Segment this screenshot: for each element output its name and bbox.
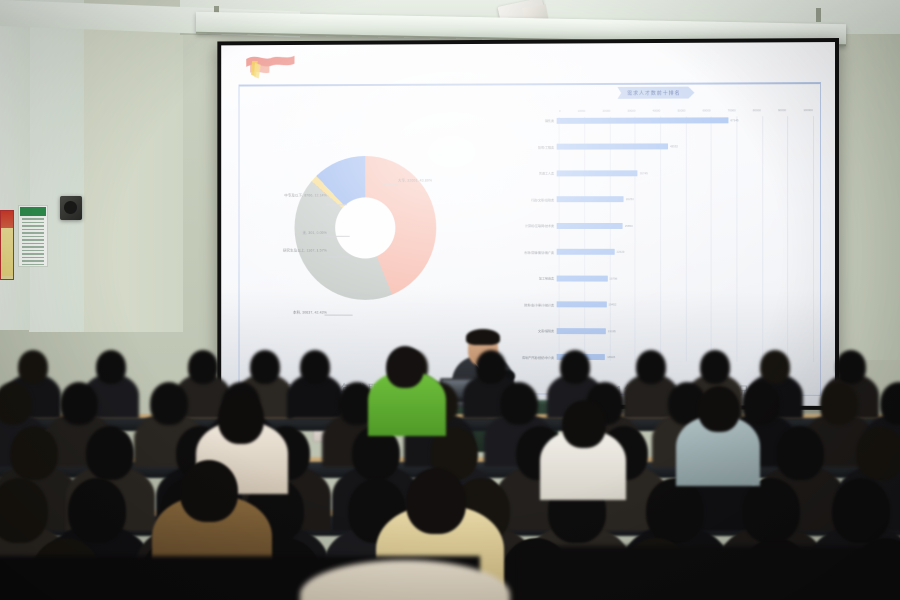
bar-chart-value-label: 19796	[607, 276, 617, 280]
audience-head	[250, 350, 280, 384]
donut-label-zhongzhuan: 中专及以下, 8766, 12.14%	[244, 194, 327, 199]
bar-chart-x-tick: 20000	[602, 109, 610, 117]
wall-speaker	[60, 196, 82, 220]
bar-chart-bar[interactable]	[557, 144, 668, 150]
bar-chart-value-label: 25850	[623, 224, 633, 228]
bar-chart-x-tick: 30000	[627, 109, 635, 117]
bar-chart-category-label: 财务/会计/审计/统计类	[496, 302, 557, 307]
audience-head	[386, 346, 424, 388]
bar-chart-bar[interactable]	[557, 170, 638, 176]
ribbon-decoration-icon	[242, 51, 296, 85]
bar-chart-row: 市场/营销/策划/推广类22629	[496, 248, 813, 255]
left-wall-face	[29, 0, 84, 332]
audience-head	[760, 350, 790, 384]
bar-chart-category-label: 建筑/工程类	[496, 144, 557, 149]
bar-chart-row: 建筑/工程类43532	[496, 143, 813, 151]
bar-chart-value-label: 43532	[668, 145, 678, 149]
leader-line	[324, 236, 349, 237]
audience-head	[646, 478, 704, 543]
bar-chart-bar[interactable]	[557, 302, 606, 308]
audience-head	[880, 382, 900, 425]
bar-chart-category-label: 销售类	[496, 118, 557, 123]
bar-chart-row: 普通工人类31745	[496, 169, 813, 177]
audience-head	[500, 382, 538, 425]
bar-chart-track: 43532	[557, 143, 813, 151]
audience-head	[18, 350, 48, 384]
donut-label-yanjiusheng: 研究生及以上, 1167, 1.57%	[241, 249, 327, 254]
audience-head	[188, 350, 218, 384]
bar-chart-track: 22629	[557, 248, 813, 255]
donut-chart	[294, 155, 436, 299]
bar-chart-x-tick: 80000	[753, 108, 761, 116]
bar-chart-track: 19796	[557, 275, 813, 283]
audience-head	[700, 350, 730, 384]
bar-chart-x-tick: 10000	[578, 109, 586, 117]
bar-chart-category-label: 计算机/互联网/技术类	[496, 223, 557, 228]
audience-head	[86, 426, 134, 480]
audience-head	[0, 382, 32, 425]
bar-chart-x-tick: 50000	[677, 109, 685, 117]
notice-poster	[18, 205, 48, 267]
audience-head	[476, 350, 506, 384]
bar-chart-row: 销售类67145	[496, 116, 813, 124]
bar-chart-x-tick: 40000	[652, 109, 660, 117]
audience-head	[300, 350, 330, 384]
yellow-poster	[1, 228, 13, 276]
donut-label-wu: 无, 301, 0.05%	[254, 231, 327, 236]
bar-chart-category-label: 行政/文职/后勤类	[496, 197, 557, 202]
bar-chart-x-tick: 90000	[778, 108, 786, 116]
audience-head	[742, 478, 800, 543]
left-wall	[0, 0, 30, 330]
audience-head	[742, 382, 780, 425]
bar-chart-x-tick: 70000	[728, 108, 736, 116]
bar-chart-bar[interactable]	[557, 223, 623, 229]
bar-chart-category-label: 市场/营销/策划/推广类	[496, 249, 557, 254]
audience-head	[856, 426, 900, 480]
leader-line	[383, 184, 398, 185]
bar-chart-title: 需求人才数前十排名	[617, 87, 694, 99]
audience-head	[10, 426, 58, 480]
leader-line	[324, 257, 349, 258]
bar-chart-category-label: 普通工人类	[496, 171, 557, 176]
bar-chart-bar[interactable]	[557, 196, 624, 202]
bar-chart-row: 计算机/互联网/技术类25850	[496, 222, 813, 229]
audience-head	[406, 468, 466, 534]
bar-chart-x-tick: 100000	[803, 108, 813, 116]
bar-chart-bar[interactable]	[557, 275, 607, 281]
bar-chart-category-label: 加工制造类	[496, 276, 557, 281]
audience-head	[636, 350, 666, 384]
audience-head	[218, 392, 264, 444]
lecture-hall-photo: 大专, 32651, 43.80% 中专及以下, 8766, 12.14% 无,…	[0, 0, 900, 600]
audience-head	[562, 400, 606, 448]
mid-wall-panel	[83, 10, 183, 332]
bar-chart-x-tick: 0	[559, 109, 561, 117]
bar-chart-track: 31745	[557, 169, 813, 177]
audience-head	[560, 350, 590, 384]
bar-chart-track: 25850	[557, 222, 813, 229]
bar-chart-bar[interactable]	[557, 249, 615, 255]
audience-head	[776, 426, 824, 480]
bar-chart-bar[interactable]	[557, 117, 728, 123]
bar-chart-row: 财务/会计/审计/统计类19452	[496, 301, 813, 309]
bar-chart-track: 67145	[557, 116, 813, 124]
bar-chart-value-label: 22629	[615, 250, 625, 254]
audience-head	[60, 382, 98, 425]
audience-head	[150, 382, 188, 425]
right-wall	[838, 0, 900, 360]
audience-head	[68, 478, 126, 543]
leader-line	[324, 204, 347, 205]
bar-chart-value-label: 26253	[624, 197, 634, 201]
bar-chart-value-label: 19452	[606, 303, 616, 307]
audience-head	[836, 350, 866, 384]
audience-head	[96, 350, 126, 384]
bar-chart-row: 加工制造类19796	[496, 275, 813, 283]
bar-chart-value-label: 31745	[638, 171, 648, 175]
donut-label-dazhuan: 大专, 32651, 43.80%	[398, 178, 432, 183]
bar-chart-x-tick: 60000	[703, 108, 711, 116]
audience-head	[698, 386, 740, 432]
audience-head	[820, 382, 858, 425]
donut-hole	[335, 197, 395, 258]
bar-chart-track: 26253	[557, 196, 813, 203]
audience-head	[180, 460, 238, 522]
audience-head	[832, 478, 890, 543]
audience-foreground	[520, 546, 900, 600]
bar-chart-value-label: 67145	[728, 118, 738, 122]
beam-clip	[816, 8, 821, 22]
bar-chart-row: 行政/文职/后勤类26253	[496, 196, 813, 203]
bar-chart-track: 19452	[557, 301, 813, 309]
audience	[0, 310, 900, 600]
